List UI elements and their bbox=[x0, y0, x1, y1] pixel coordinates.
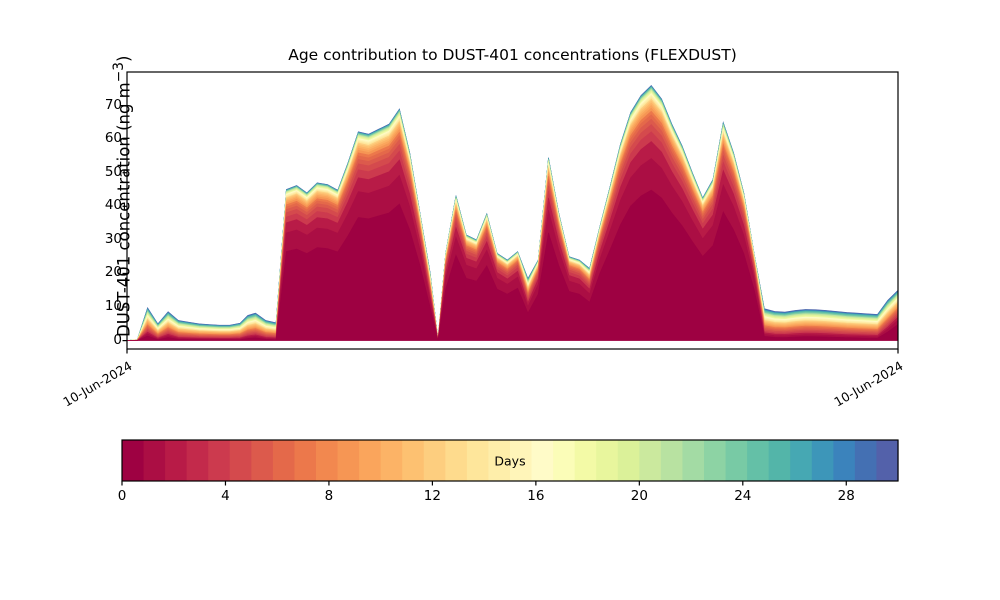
y-tick-label: 10 bbox=[96, 300, 122, 314]
colorbar-band-3 bbox=[187, 440, 209, 481]
colorbar-band-25 bbox=[661, 440, 683, 481]
y-tick-label: 70 bbox=[96, 99, 122, 113]
colorbar-tick-label: 4 bbox=[221, 488, 230, 504]
colorbar-tick-label: 16 bbox=[527, 488, 544, 504]
colorbar-band-35 bbox=[876, 440, 898, 481]
colorbar-band-34 bbox=[855, 440, 877, 481]
colorbar-band-10 bbox=[338, 440, 360, 481]
colorbar-tick-label: 28 bbox=[838, 488, 855, 504]
colorbar-band-1 bbox=[144, 440, 166, 481]
colorbar-label: Days bbox=[494, 453, 525, 468]
y-tick-label: 40 bbox=[96, 199, 122, 213]
y-tick-label: 20 bbox=[96, 266, 122, 280]
colorbar-band-31 bbox=[790, 440, 812, 481]
colorbar-band-26 bbox=[682, 440, 704, 481]
y-tick-label: 50 bbox=[96, 166, 122, 180]
colorbar-band-2 bbox=[165, 440, 187, 481]
colorbar-tick-label: 0 bbox=[118, 488, 127, 504]
colorbar-band-28 bbox=[726, 440, 748, 481]
colorbar-tick-label: 24 bbox=[734, 488, 751, 504]
colorbar-band-9 bbox=[316, 440, 338, 481]
colorbar-band-13 bbox=[402, 440, 424, 481]
colorbar-band-30 bbox=[769, 440, 791, 481]
colorbar-band-29 bbox=[747, 440, 769, 481]
y-tick-label: 60 bbox=[96, 132, 122, 146]
colorbar-tick-label: 12 bbox=[424, 488, 441, 504]
colorbar-band-7 bbox=[273, 440, 295, 481]
colorbar-band-23 bbox=[618, 440, 640, 481]
colorbar-band-24 bbox=[639, 440, 661, 481]
y-axis-ticklabels: 010203040506070 bbox=[92, 0, 122, 600]
colorbar-band-12 bbox=[381, 440, 403, 481]
colorbar-band-32 bbox=[812, 440, 834, 481]
colorbar-band-11 bbox=[359, 440, 381, 481]
colorbar-band-15 bbox=[445, 440, 467, 481]
colorbar-band-21 bbox=[575, 440, 597, 481]
y-tick-label: 30 bbox=[96, 233, 122, 247]
colorbar-band-19 bbox=[532, 440, 554, 481]
area-chart-plot bbox=[0, 0, 1000, 600]
y-tick-label: 0 bbox=[96, 334, 122, 348]
colorbar-band-20 bbox=[553, 440, 575, 481]
colorbar-band-8 bbox=[294, 440, 316, 481]
colorbar-band-4 bbox=[208, 440, 230, 481]
colorbar-band-14 bbox=[424, 440, 446, 481]
colorbar-band-16 bbox=[467, 440, 489, 481]
colorbar-band-5 bbox=[230, 440, 252, 481]
colorbar-tick-label: 8 bbox=[325, 488, 334, 504]
colorbar-band-6 bbox=[251, 440, 273, 481]
colorbar-band-33 bbox=[833, 440, 855, 481]
colorbar-tick-label: 20 bbox=[631, 488, 648, 504]
colorbar-band-0 bbox=[122, 440, 144, 481]
chart-title: Age contribution to DUST-401 concentrati… bbox=[127, 46, 898, 64]
colorbar-band-22 bbox=[596, 440, 618, 481]
colorbar-band-27 bbox=[704, 440, 726, 481]
